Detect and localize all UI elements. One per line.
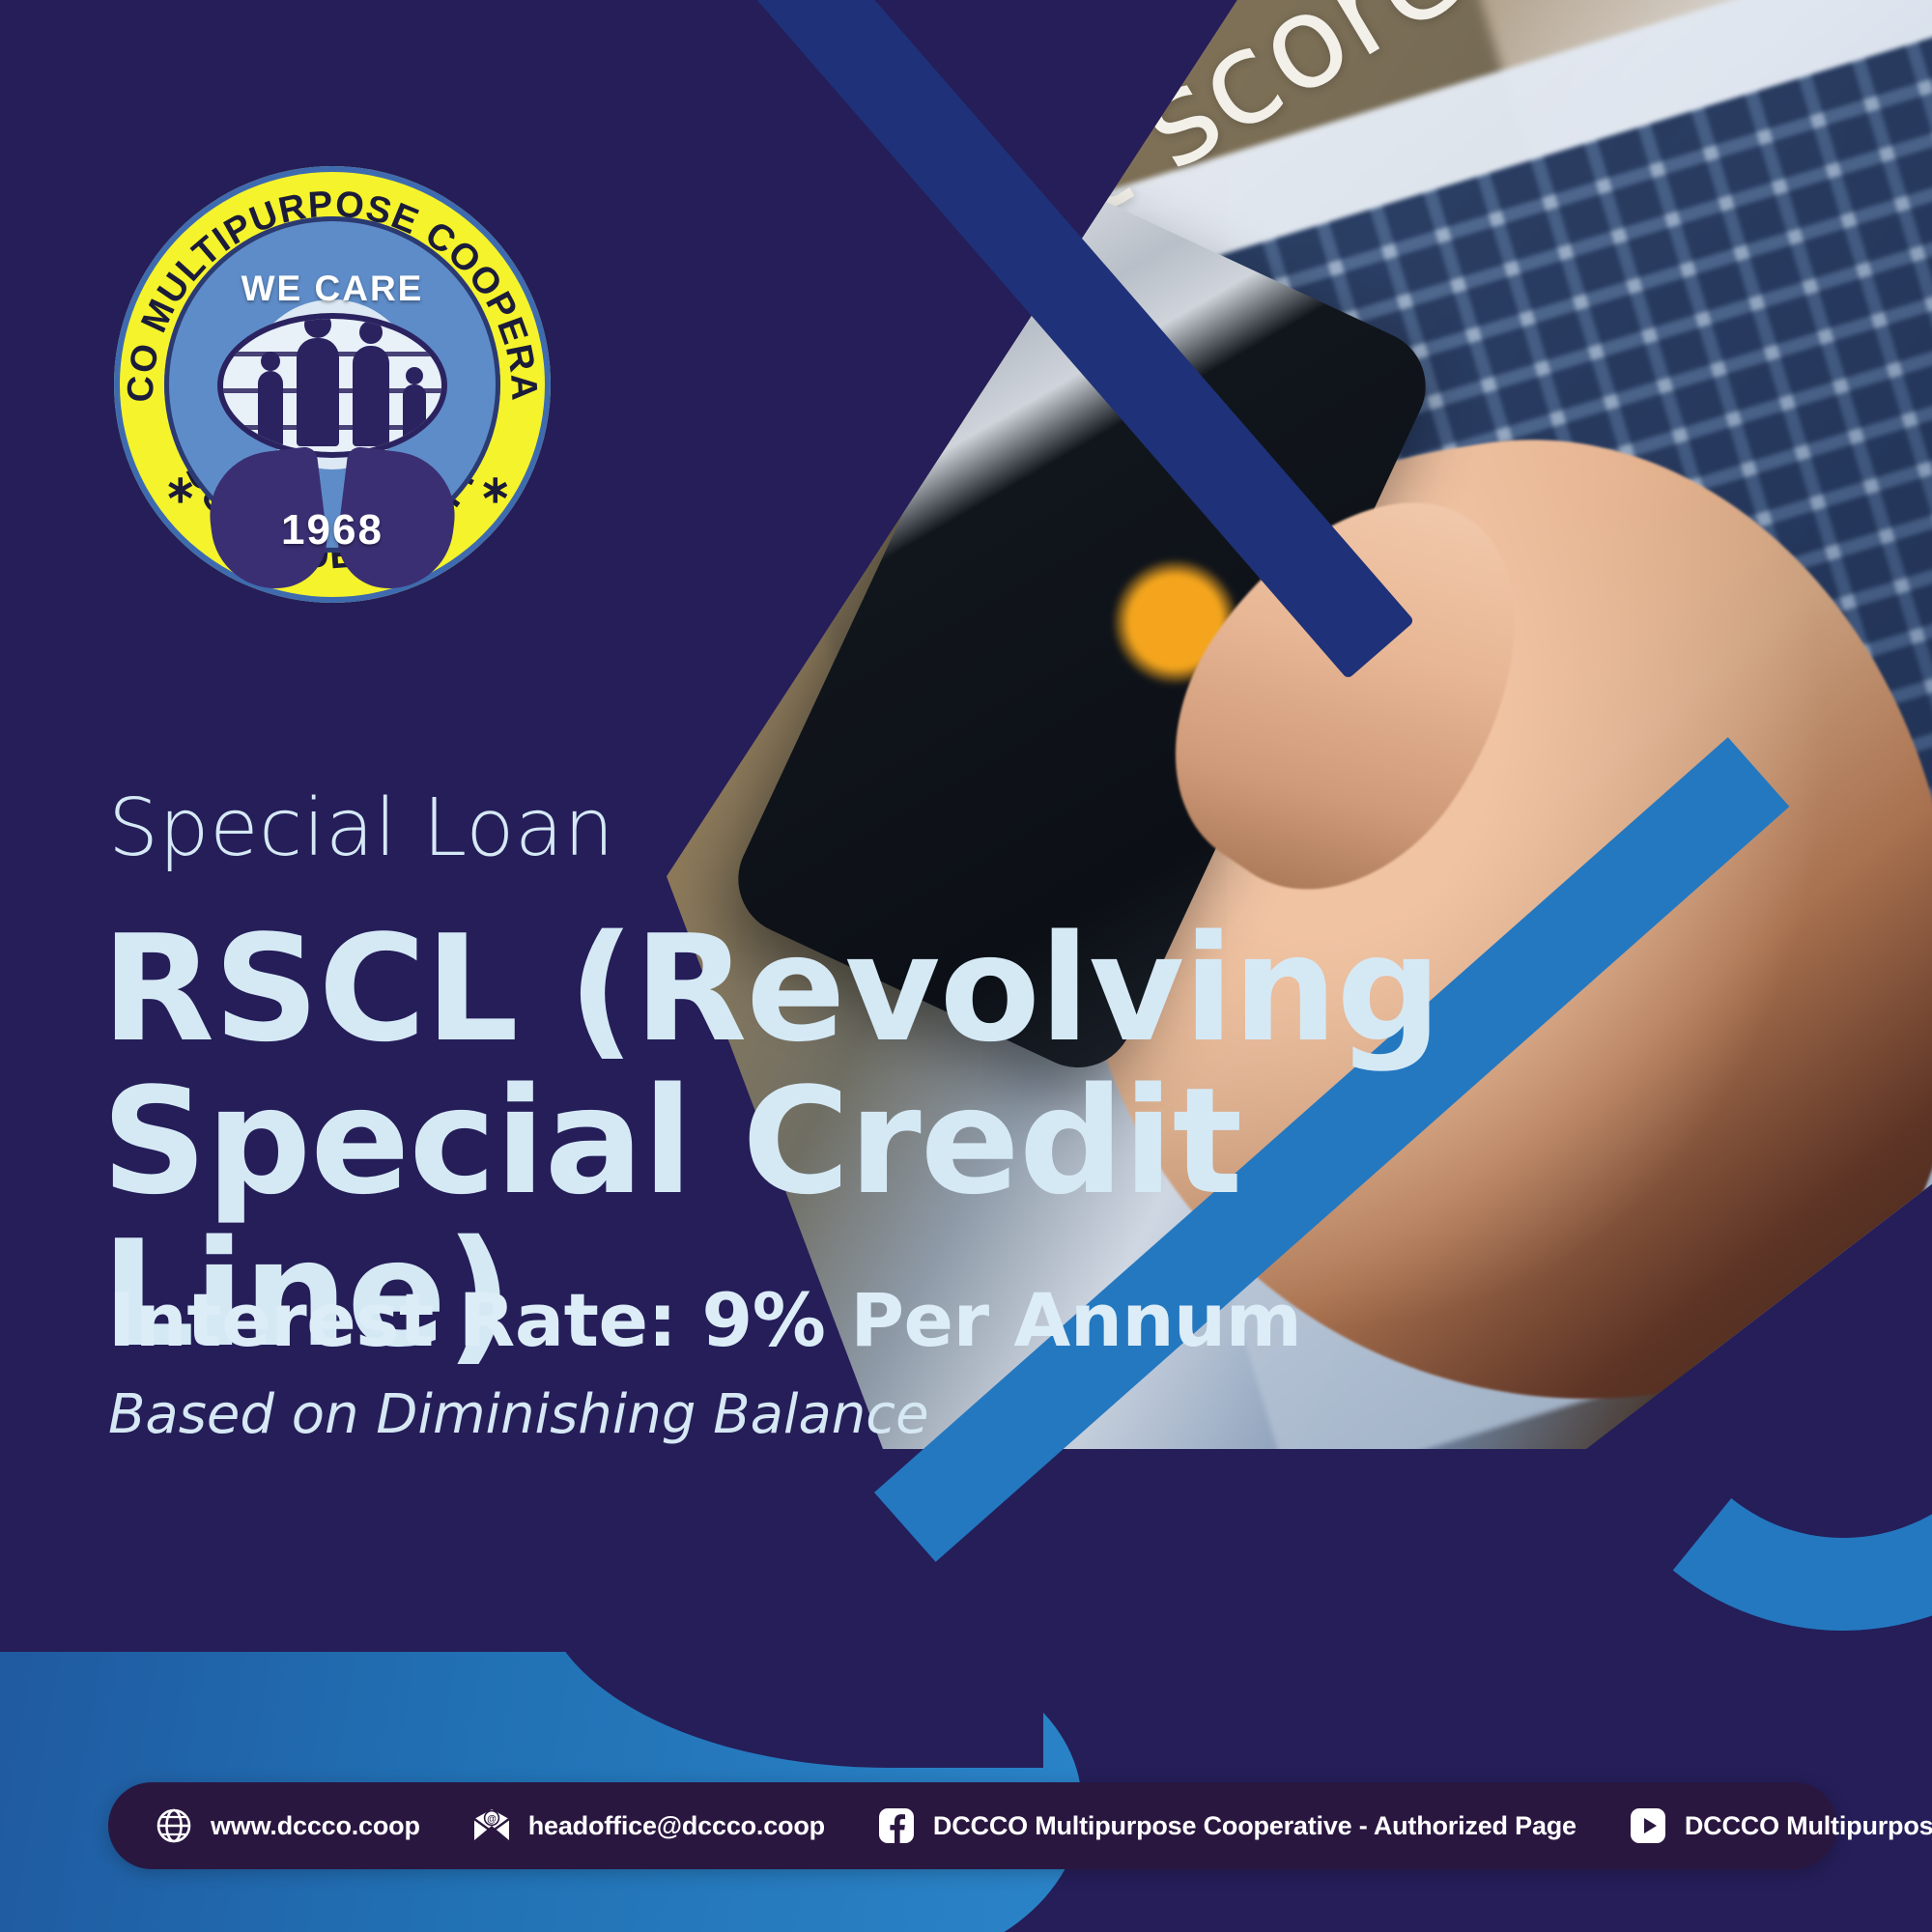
youtube-icon	[1627, 1804, 1669, 1847]
figure-child-left	[258, 371, 283, 446]
interest-rate-text: Interest Rate: 9% Per Annum	[108, 1277, 1301, 1363]
footer-item-website[interactable]: www.dccco.coop	[153, 1804, 420, 1847]
globe-icon	[153, 1804, 195, 1847]
headline-line-1: RSCL (Revolving	[101, 913, 1608, 1065]
figure-child-right	[403, 384, 426, 446]
contact-bar: www.dccco.coop @ headoffice@dccco.coop	[108, 1782, 1837, 1869]
logo-globe-emblem	[217, 313, 447, 458]
footer-item-email[interactable]: @ headoffice@dccco.coop	[470, 1804, 825, 1847]
svg-text:@: @	[487, 1814, 497, 1825]
figure-mother	[353, 346, 389, 446]
facebook-label: DCCCO Multipurpose Cooperative - Authori…	[933, 1811, 1577, 1841]
email-icon: @	[470, 1804, 513, 1847]
website-label: www.dccco.coop	[211, 1811, 420, 1841]
dccco-logo: DCCCO MULTIPURPOSE COOPERATIVE DUMAGUETE…	[114, 166, 551, 603]
email-label: headoffice@dccco.coop	[528, 1811, 825, 1841]
svg-text:∗: ∗	[479, 469, 512, 511]
logo-tagline: WE CARE	[114, 269, 551, 309]
poster-canvas: credit score DCCCO MULTIPURPOSE COOPERAT…	[0, 0, 1932, 1932]
footer-item-facebook[interactable]: DCCCO Multipurpose Cooperative - Authori…	[875, 1804, 1577, 1847]
footer-item-youtube[interactable]: DCCCO Multipurpose Cooperative	[1627, 1804, 1932, 1847]
youtube-label: DCCCO Multipurpose Cooperative	[1685, 1811, 1932, 1841]
logo-year: 1968	[114, 506, 551, 554]
kicker-label: Special Loan	[108, 782, 614, 874]
interest-rate-note: Based on Diminishing Balance	[108, 1383, 929, 1446]
facebook-icon	[875, 1804, 918, 1847]
figure-father	[297, 338, 339, 446]
